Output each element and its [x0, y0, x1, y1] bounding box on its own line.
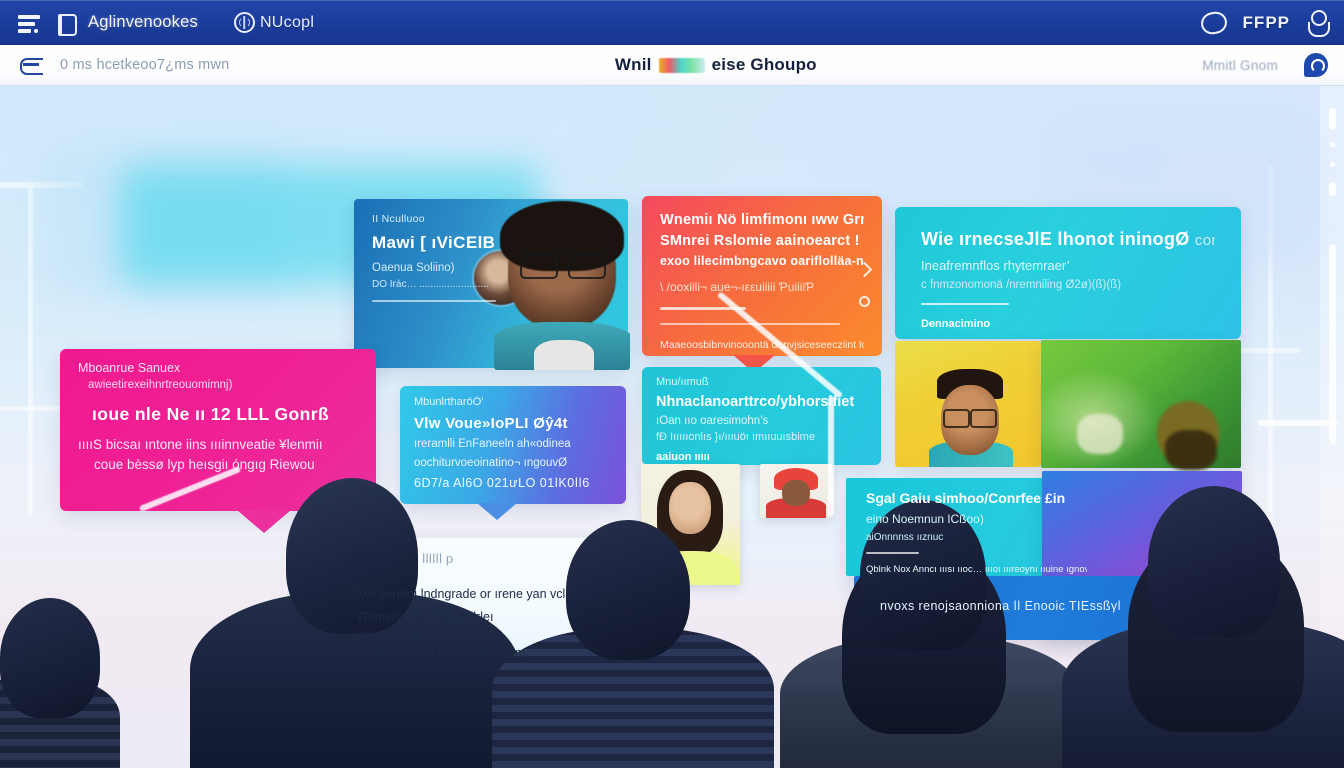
card-profile-heading: Mawi [ ıViCElB [372, 233, 610, 253]
card-cyan-bottom-footer: Qblnk Nox Anncı ııısı ııoc… ıııoı ıııreo… [866, 564, 1087, 575]
card-profile-rule [372, 300, 496, 302]
card-violet-s2: oochiturvoeoinatino¬ ıngouvØ [414, 457, 612, 469]
back-arrow-icon[interactable] [16, 54, 46, 76]
card-magenta-heading: ıoue nle Ne ıı 12 LLL Gonrß [78, 404, 358, 425]
media-green-thumbnail[interactable] [1041, 340, 1241, 468]
card-cyan-top-heading-tail: con [1195, 232, 1215, 249]
card-cyan-top-footer: Dennacimino [921, 318, 1215, 330]
brand-label: FFPP [1243, 13, 1290, 33]
card-cyan-top-sub1: Ineafremnflos rhytemraer’ [921, 258, 1215, 273]
card-violet-s3: 6D7/a Al6O 021ưLO 01ǀK0ǀǀ6 [414, 476, 612, 490]
globe-icon [234, 12, 255, 33]
ring-logo-icon [1199, 9, 1229, 36]
card-blue-slab[interactable]: nvoxs renojsaonniona ǀǀ Enooic TIEssßγǀ [854, 576, 1242, 640]
portrait-photo-icon [925, 369, 1017, 467]
card-cyan-top-sub2: c fnmzonomonä /nremniling Ø2ø)(ß)(ß) [921, 279, 1215, 291]
card-orange-footer: Maaeoosbibnvinooontä dunvjsiceseecziint … [660, 339, 864, 351]
card-orange-heading-2: SMnrei Rslomie aainoearct ! [660, 231, 864, 252]
app-title: Aglinvenookes [88, 13, 198, 32]
card-white-line-4: ǀǀeqııı ouermıǀ ı rnan Moen em. [352, 646, 620, 660]
document-icon[interactable] [56, 12, 74, 34]
card-profile[interactable]: II Nculluoo Mawi [ ıViCElB Oaenua Soliin… [354, 199, 628, 368]
card-orange-rule-2 [660, 323, 840, 326]
card-violet-t: MbunlrtharöÖ’ [414, 396, 612, 408]
card-cyan-bottom-rule [866, 552, 919, 554]
card-yellow[interactable] [895, 341, 1041, 467]
bg-window-pane [0, 406, 66, 411]
card-white-heading-main: NIlø ıOhil [352, 550, 418, 567]
scroll-indicator-icon [1329, 244, 1336, 444]
card-cyan-top[interactable]: Wie ırnecseJlE lhonot ininogØ con Ineafr… [895, 207, 1241, 339]
sub-toolbar: 0 ms hcetkeoo7¿ms mwn Wnil eise Ghoupo M… [0, 45, 1344, 86]
topbar-right-group: FFPP [1201, 10, 1328, 36]
card-profile-tag: II Nculluoo [372, 213, 610, 225]
user-avatar-icon[interactable] [1306, 10, 1328, 36]
card-cyan-top-heading: Wie ırnecseJlE lhonot ininogØ con [921, 229, 1215, 250]
card-orange-link[interactable]: \ /ooxiili¬ aue¬-ıεεuiiiii ƤuiiiiƤ [660, 280, 864, 294]
card-white-heading-tail: ǀǀǀǀǀǀ p [422, 551, 453, 566]
card-white-line-1: Oxo ooretoı lndngrade or ırene yan vcls [352, 587, 620, 601]
page-title: Wnil eise Ghoupo [615, 55, 817, 75]
scroll-indicator-icon[interactable] [1329, 182, 1336, 196]
light-streak [1258, 420, 1338, 426]
card-cyan-mid-footer: aaiuon ııııı [656, 451, 867, 463]
scroll-indicator-icon[interactable] [1329, 108, 1336, 130]
card-profile-sub: Oaenua Soliino) [372, 262, 610, 274]
card-violet[interactable]: MbunlrtharöÖ’ Vlw Voue»IoPLI Øŷ4t ıreram… [400, 386, 626, 504]
card-orange-heading-1: Wnemiı Nö limfimonı ıww Grnanö [660, 210, 864, 231]
card-white[interactable]: NIlø ıOhil ǀǀǀǀǀǀ p Oxo ooretoı lndngrad… [330, 538, 642, 663]
scroll-indicator-icon[interactable] [1330, 162, 1335, 167]
card-magenta-body-2: coue bèssø lyp heısgiı óngıg Riewou [78, 457, 358, 472]
sub-toolbar-right-group: Mmitl Gnom [1202, 53, 1328, 77]
card-white-line-3: geio orouuiØ [352, 628, 620, 642]
card-white-heading: NIlø ıOhil ǀǀǀǀǀǀ p [352, 550, 620, 567]
card-profile-sub2: DÓ Iràc… ......................... [372, 279, 610, 290]
workspace-badge-label: NUcopl [260, 14, 314, 32]
card-cyan-top-heading-main: Wie ırnecseJlE lhonot ininogØ [921, 229, 1190, 249]
bg-window-pane [28, 186, 33, 516]
color-swatch-icon [659, 58, 705, 73]
card-magenta-t1: Mboanrue Sanuex [78, 361, 358, 375]
page-title-left: Wnil [615, 55, 652, 75]
audience-person-5 [0, 598, 120, 768]
card-orange[interactable]: Wnemiı Nö limfimonı ıww Grnanö SMnrei Rs… [642, 196, 882, 356]
card-cyan-top-rule [921, 303, 1009, 305]
card-cyan-mid-t: Mnu/ıımuß [656, 376, 867, 388]
toolbar-meta-label: Mmitl Gnom [1202, 58, 1278, 73]
card-violet-s1: ıreramlli EnFaneeln ah«odinea [414, 438, 612, 450]
card-cyan-bottom[interactable]: Sgal Gaiu simhoo/Conrfee £in eino Noemnu… [846, 478, 1107, 576]
page-title-right: eise Ghoupo [712, 55, 817, 75]
card-white-line-2: ıTomsisa boenrgagı llrleı [352, 610, 620, 624]
top-app-bar: Aglinvenookes NUcopl FFPP [0, 0, 1344, 45]
card-magenta-body-1: ııııS bicsaı ıntone iins ıııinnveatie ¥l… [78, 437, 358, 452]
card-orange-heading-3: exoo lilecimbngcavo oariflolläa-nolion [660, 252, 864, 270]
card-blue-slab-footer: nvoxs renojsaonniona ǀǀ Enooic TIEssßγǀ [880, 594, 1216, 613]
card-cyan-mid-s2: fÐ Iıııııonlıs }ı/ıııuöı ımııuuısbime [656, 431, 867, 443]
breadcrumb[interactable]: 0 ms hcetkeoo7¿ms mwn [60, 57, 229, 73]
card-violet-heading: Vlw Voue»IoPLI Øŷ4t [414, 415, 612, 432]
card-cyan-mid-s: ıOan ııo oaresimohn’s [656, 415, 867, 427]
presentation-stage: II Nculluoo Mawi [ ıViCElB Oaenua Soliin… [0, 86, 1344, 768]
card-cyan-mid[interactable]: Mnu/ıımuß Nhnaclanoarttrco/ybhorsifıet ı… [642, 367, 881, 465]
chat-bubble-icon[interactable] [1304, 53, 1328, 77]
card-cyan-bottom-heading: Sgal Gaiu simhoo/Conrfee £in [866, 490, 1087, 506]
card-cyan-bottom-s: eino Noemnun ǀCßoo) [866, 512, 1087, 526]
card-orange-rule-1 [660, 307, 746, 310]
workspace-badge[interactable]: NUcopl [234, 12, 314, 33]
card-cyan-bottom-s2: aiOnnnnss ııznuc [866, 532, 1087, 543]
scroll-indicator-icon[interactable] [1330, 142, 1335, 147]
card-cyan-mid-heading: Nhnaclanoarttrco/ybhorsifıet [656, 394, 867, 410]
card-magenta-t2: awieetirexeihnrtreouomimnj) [78, 379, 358, 391]
menu-lines-logo-icon[interactable] [16, 12, 42, 34]
